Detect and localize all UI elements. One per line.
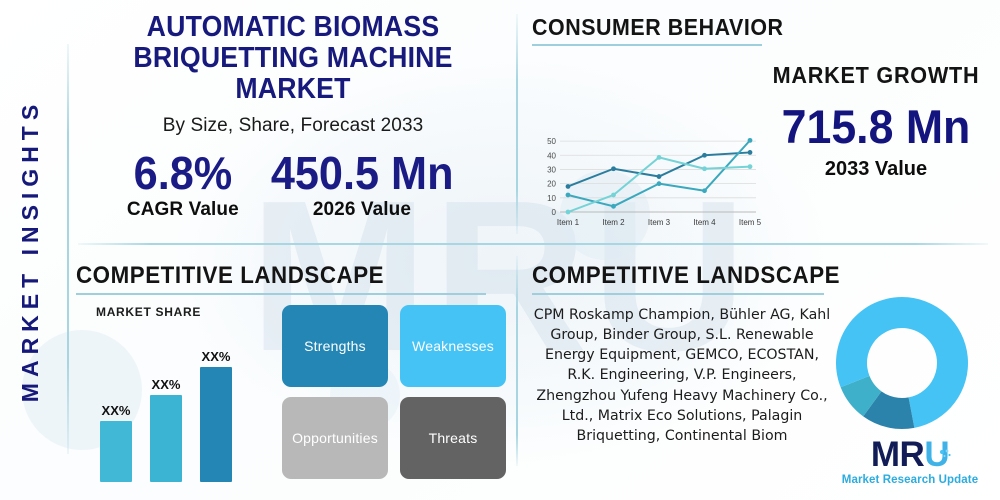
bar-column: XX% <box>100 403 132 482</box>
side-rail: MARKET INSIGHTS <box>0 0 62 500</box>
bar-value-label: XX% <box>150 377 182 392</box>
svg-text:Item 2: Item 2 <box>602 218 625 227</box>
page-title: AUTOMATIC BIOMASS BRIQUETTING MACHINE MA… <box>93 12 492 105</box>
donut-chart-svg <box>830 293 980 433</box>
divider-vertical-bottom-middle <box>516 256 518 466</box>
line-chart-svg: 01020304050Item 1Item 2Item 3Item 4Item … <box>538 128 762 230</box>
key-stats-row: 6.8% CAGR Value 450.5 Mn 2026 Value <box>76 149 510 221</box>
svg-text:10: 10 <box>547 194 556 203</box>
consumer-behavior-line-chart: 01020304050Item 1Item 2Item 3Item 4Item … <box>538 128 762 230</box>
market-share-bar-chart: XX%XX%XX% <box>94 317 264 482</box>
swot-cell-strengths[interactable]: Strengths <box>282 305 388 387</box>
divider-horizontal <box>78 243 988 245</box>
logo-mr-text: MR <box>871 435 924 474</box>
swot-cell-threats[interactable]: Threats <box>400 397 506 479</box>
logo-droplet-icon <box>938 434 952 448</box>
swot-cell-opportunities[interactable]: Opportunities <box>282 397 388 479</box>
brand-logo: MRU Market Research Update <box>830 437 990 486</box>
market-share-donut-chart <box>830 293 990 441</box>
swot-label: Strengths <box>304 338 366 354</box>
swot-grid: Strengths Weaknesses Opportunities Threa… <box>282 305 506 479</box>
heading-underline <box>76 293 486 295</box>
competitive-landscape-right-panel: COMPETITIVE LANDSCAPE CPM Roskamp Champi… <box>532 262 992 492</box>
competitive-landscape-left-heading: COMPETITIVE LANDSCAPE <box>76 262 480 290</box>
bar-column: XX% <box>200 349 232 482</box>
company-list: CPM Roskamp Champion, Bühler AG, Kahl Gr… <box>532 305 832 446</box>
donut-segment <box>836 297 902 387</box>
svg-text:20: 20 <box>547 180 556 189</box>
svg-text:Item 1: Item 1 <box>557 218 580 227</box>
logo-mark: MRU <box>871 437 949 472</box>
svg-text:0: 0 <box>552 208 557 217</box>
consumer-behavior-panel: CONSUMER BEHAVIOR MARKET GROWTH 715.8 Mn… <box>532 14 992 240</box>
stat-cagr-value: 6.8% <box>130 149 235 197</box>
svg-text:Item 4: Item 4 <box>693 218 716 227</box>
bar-rect <box>150 395 182 482</box>
bar-value-label: XX% <box>200 349 232 364</box>
stat-2026: 450.5 Mn 2026 Value <box>265 149 459 221</box>
logo-tagline: Market Research Update <box>830 474 990 486</box>
bar-rect <box>100 421 132 482</box>
swot-label: Opportunities <box>292 430 378 446</box>
swot-label: Threats <box>429 430 478 446</box>
competitive-landscape-right-heading: COMPETITIVE LANDSCAPE <box>532 262 960 290</box>
swot-cell-weaknesses[interactable]: Weaknesses <box>400 305 506 387</box>
divider-vertical-top-middle <box>516 14 518 234</box>
page-subtitle: By Size, Share, Forecast 2033 <box>76 115 510 137</box>
bar-column: XX% <box>150 377 182 482</box>
competitive-landscape-left-panel: COMPETITIVE LANDSCAPE MARKET SHARE XX%XX… <box>76 262 510 490</box>
svg-text:30: 30 <box>547 165 556 174</box>
stat-2026-label: 2026 Value <box>265 199 459 221</box>
donut-segment <box>902 297 968 428</box>
svg-text:40: 40 <box>547 151 556 160</box>
market-growth-heading: MARKET GROWTH <box>769 62 983 89</box>
market-growth-label: 2033 Value <box>762 158 990 181</box>
swot-label: Weaknesses <box>412 338 494 354</box>
svg-text:50: 50 <box>547 137 556 146</box>
bar-value-label: XX% <box>100 403 132 418</box>
bar-rect <box>200 367 232 482</box>
market-growth-value: 715.8 Mn <box>768 102 985 153</box>
stat-2026-value: 450.5 Mn <box>271 149 454 197</box>
stat-cagr-label: CAGR Value <box>127 199 239 221</box>
infographic-canvas: MRU MARKET INSIGHTS AUTOMATIC BIOMASS BR… <box>0 0 1000 500</box>
consumer-behavior-heading: CONSUMER BEHAVIOR <box>532 14 960 41</box>
svg-text:Item 5: Item 5 <box>739 218 762 227</box>
side-rail-label: MARKET INSIGHTS <box>18 98 45 401</box>
svg-text:Item 3: Item 3 <box>648 218 671 227</box>
divider-vertical-left <box>67 44 69 454</box>
stat-cagr: 6.8% CAGR Value <box>127 149 239 221</box>
header-panel: AUTOMATIC BIOMASS BRIQUETTING MACHINE MA… <box>76 12 510 240</box>
